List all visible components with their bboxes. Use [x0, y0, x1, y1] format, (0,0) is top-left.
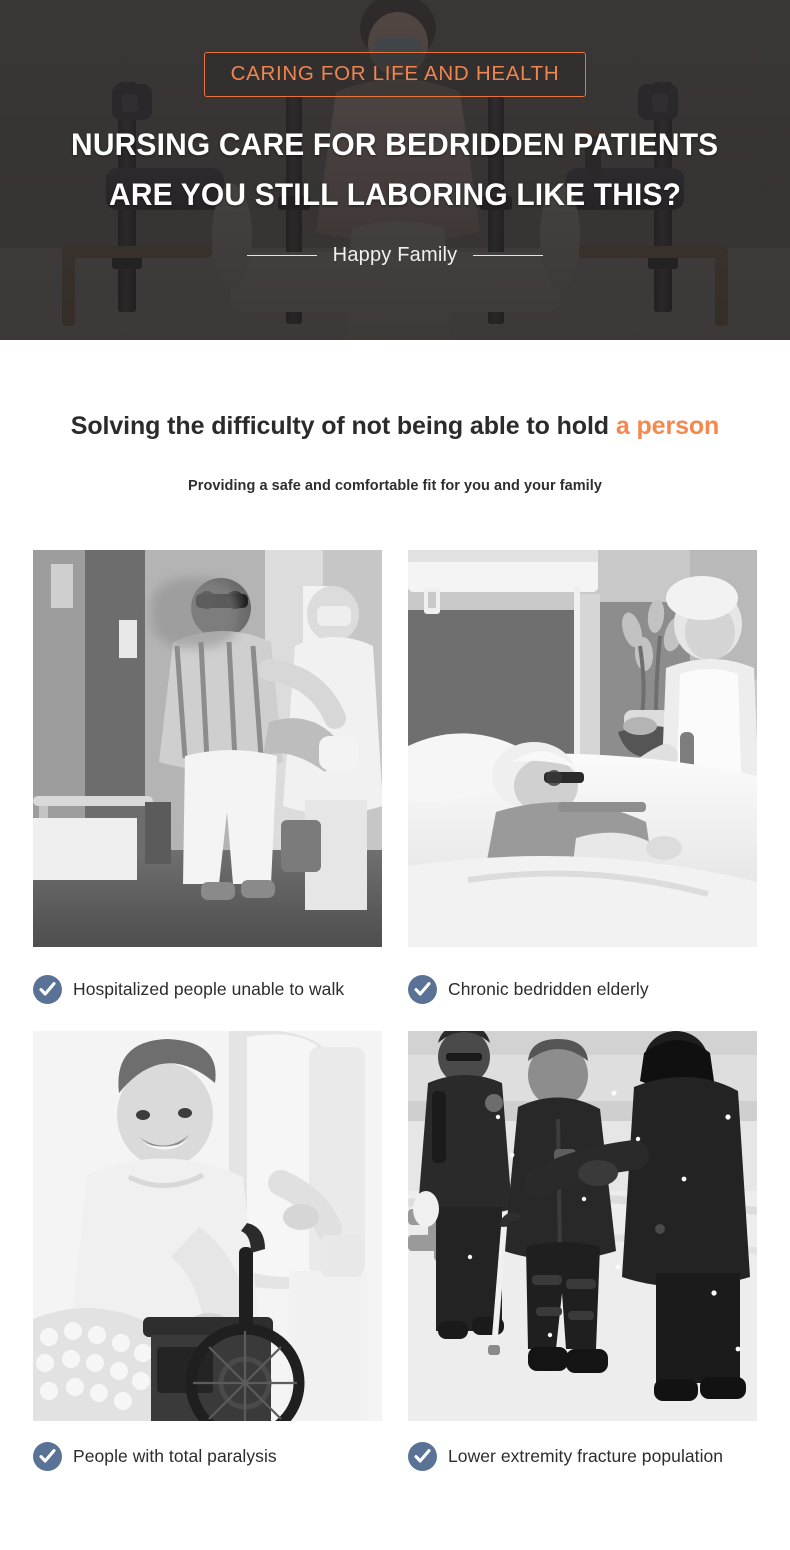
section-subtitle: Providing a safe and comfortable fit for…: [0, 478, 790, 494]
caption-row: Chronic bedridden elderly: [408, 947, 757, 1031]
grid-item: Chronic bedridden elderly: [408, 550, 757, 1031]
section-title-main: Solving the difficulty of not being able…: [71, 412, 616, 440]
section-heading: Solving the difficulty of not being able…: [0, 412, 790, 494]
hero-banner: CARING FOR LIFE AND HEALTH NURSING CARE …: [0, 0, 790, 340]
grid-item: Hospitalized people unable to walk: [33, 550, 382, 1031]
caption-text: Chronic bedridden elderly: [448, 979, 649, 1000]
grid-item: People with total paralysis: [33, 1031, 382, 1491]
caption-text: Hospitalized people unable to walk: [73, 979, 344, 1000]
photo-hospital-walking: [33, 550, 382, 947]
caption-row: Lower extremity fracture population: [408, 1421, 757, 1491]
hero-title-line-2: ARE YOU STILL LABORING LIKE THIS?: [109, 179, 681, 211]
divider-line-left: [247, 255, 317, 257]
caption-row: Hospitalized people unable to walk: [33, 947, 382, 1031]
section-title: Solving the difficulty of not being able…: [0, 412, 790, 441]
hero-subtitle-group: Happy Family: [247, 244, 544, 267]
photo-snow-assistance: [408, 1031, 757, 1421]
check-mark-icon: [408, 975, 437, 1004]
check-mark-icon: [33, 1442, 62, 1471]
photo-wheelchair-woman: [33, 1031, 382, 1421]
section-title-accent: a person: [616, 412, 719, 440]
caption-row: People with total paralysis: [33, 1421, 382, 1491]
hero-title-line-1: NURSING CARE FOR BEDRIDDEN PATIENTS: [71, 129, 718, 161]
caption-text: Lower extremity fracture population: [448, 1446, 723, 1467]
hero-subtitle: Happy Family: [333, 244, 458, 267]
grid-item: Lower extremity fracture population: [408, 1031, 757, 1491]
caption-text: People with total paralysis: [73, 1446, 277, 1467]
photo-bedridden-elderly: [408, 550, 757, 947]
feature-grid: Hospitalized people unable to walk: [33, 550, 757, 1491]
divider-line-right: [473, 255, 543, 257]
hero-badge: CARING FOR LIFE AND HEALTH: [204, 52, 587, 97]
check-mark-icon: [33, 975, 62, 1004]
check-mark-icon: [408, 1442, 437, 1471]
